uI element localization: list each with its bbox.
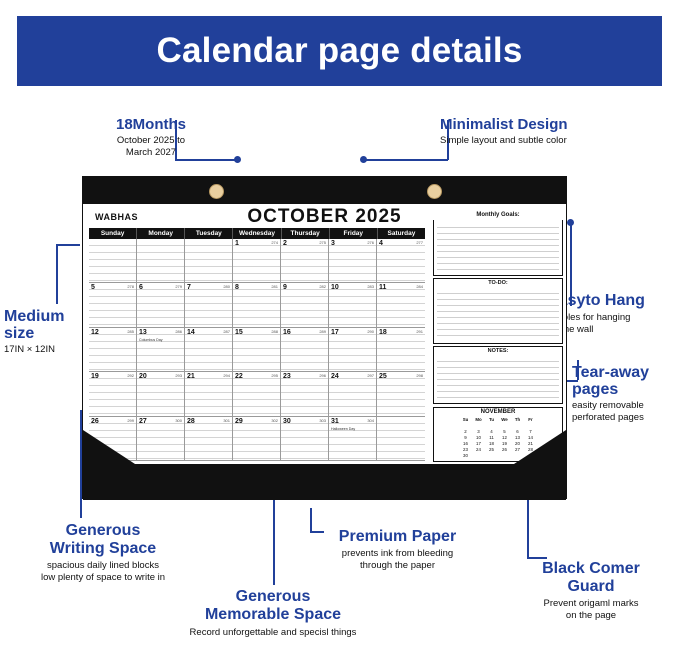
calendar-day-cell: 27300 bbox=[137, 417, 185, 461]
calendar-day-cell bbox=[185, 239, 233, 283]
day-number: 3 bbox=[331, 240, 335, 247]
callout-tear-away-sub: easity removable perforated pages bbox=[572, 400, 678, 424]
calendar-day-cell: 8281 bbox=[233, 283, 281, 327]
callout-tear-away-title: Tear-away pages bbox=[572, 364, 678, 398]
callout-memorable-space-title: Generous Memorable Space bbox=[148, 588, 398, 624]
calendar-day-cell: 15288 bbox=[233, 328, 281, 372]
day-of-year: 277 bbox=[416, 240, 423, 245]
calendar-day-cell: 12285 bbox=[89, 328, 137, 372]
day-number: 22 bbox=[235, 373, 243, 380]
calendar-day-cell: 22295 bbox=[233, 372, 281, 416]
day-of-year: 296 bbox=[319, 373, 326, 378]
hanging-hole-icon-right bbox=[427, 184, 442, 199]
calendar-day-cell: 31304Halloween Day bbox=[329, 417, 377, 461]
connector-dot-months bbox=[234, 156, 241, 163]
callout-premium-paper-title: Premium Paper bbox=[305, 528, 490, 546]
connector-dot-hang-top bbox=[567, 219, 574, 226]
day-number: 8 bbox=[235, 284, 239, 291]
calendar-day-cell bbox=[89, 239, 137, 283]
page-root: Calendar page details 18Months October 2… bbox=[0, 0, 679, 656]
day-number: 15 bbox=[235, 329, 243, 336]
calendar-day-cell: 23296 bbox=[281, 372, 329, 416]
day-number: 10 bbox=[331, 284, 339, 291]
day-of-year: 302 bbox=[271, 418, 278, 423]
day-of-year: 280 bbox=[223, 284, 230, 289]
day-of-year: 293 bbox=[175, 373, 182, 378]
day-number: 19 bbox=[91, 373, 99, 380]
hanging-hole-icon-left bbox=[209, 184, 224, 199]
calendar-day-cell: 10283 bbox=[329, 283, 377, 327]
day-number: 2 bbox=[283, 240, 287, 247]
callout-easy-hang: Easyto Hang 2 Holes for hanging on the w… bbox=[548, 292, 678, 336]
day-number: 7 bbox=[187, 284, 191, 291]
callout-premium-paper-sub: prevents ink from bleeding through the p… bbox=[305, 548, 490, 572]
day-number: 16 bbox=[283, 329, 291, 336]
calendar-bottom-band bbox=[83, 464, 566, 500]
page-title: Calendar page details bbox=[157, 31, 523, 71]
callout-premium-paper: Premium Paper prevents ink from bleeding… bbox=[305, 528, 490, 572]
day-event-label: Halloween Day bbox=[331, 427, 355, 431]
panel-todo-lines bbox=[437, 288, 559, 341]
mini-month-title: NOVEMBER bbox=[434, 408, 562, 415]
weekday-tuesday: Tuesday bbox=[185, 228, 233, 239]
panel-todo: TO-DO: bbox=[433, 278, 563, 344]
day-number: 6 bbox=[139, 284, 143, 291]
callout-writing-space-title: Generous Writing Space bbox=[8, 522, 198, 558]
day-number: 5 bbox=[91, 284, 95, 291]
connector-line-medium-v bbox=[56, 244, 58, 304]
callout-minimalist: Minimalist Design Simple layout and subt… bbox=[440, 116, 650, 147]
weekday-friday: Friday bbox=[330, 228, 378, 239]
day-number: 21 bbox=[187, 373, 195, 380]
day-of-year: 291 bbox=[416, 329, 423, 334]
mini-day bbox=[472, 452, 485, 458]
callout-corner-guard: Black Comer Guard Prevent origaml marks … bbox=[506, 560, 676, 622]
mini-day bbox=[498, 452, 511, 458]
day-of-year: 275 bbox=[319, 240, 326, 245]
day-number: 26 bbox=[91, 418, 99, 425]
connector-line-memory-v bbox=[273, 500, 275, 585]
connector-line-medium-h bbox=[56, 244, 80, 246]
calendar-top-bar bbox=[83, 177, 566, 204]
day-of-year: 297 bbox=[367, 373, 374, 378]
callout-18months: 18Months October 2025 to March 2027 bbox=[86, 116, 216, 159]
callout-18months-title: 18Months bbox=[86, 116, 216, 133]
day-of-year: 282 bbox=[319, 284, 326, 289]
day-number: 28 bbox=[187, 418, 195, 425]
calendar-day-cell: 13286Columbus Day bbox=[137, 328, 185, 372]
mini-day bbox=[485, 452, 498, 458]
day-number: 14 bbox=[187, 329, 195, 336]
day-of-year: 287 bbox=[223, 329, 230, 334]
weekday-wednesday: Wednesday bbox=[233, 228, 281, 239]
day-of-year: 288 bbox=[271, 329, 278, 334]
callout-minimalist-sub: Simple layout and subtle color bbox=[440, 135, 650, 147]
panel-goals-lines bbox=[437, 222, 559, 273]
day-number: 4 bbox=[379, 240, 383, 247]
day-number: 1 bbox=[235, 240, 239, 247]
panel-goals bbox=[433, 220, 563, 276]
panel-notes-label: NOTES: bbox=[434, 347, 562, 354]
weekday-saturday: Saturday bbox=[378, 228, 425, 239]
calendar-day-cell: 29302 bbox=[233, 417, 281, 461]
day-of-year: 279 bbox=[175, 284, 182, 289]
day-of-year: 285 bbox=[127, 329, 134, 334]
day-event-label: Columbus Day bbox=[139, 338, 163, 342]
day-of-year: 299 bbox=[127, 418, 134, 423]
day-of-year: 295 bbox=[271, 373, 278, 378]
day-of-year: 300 bbox=[175, 418, 182, 423]
calendar-day-cell: 20293 bbox=[137, 372, 185, 416]
weekday-header-row: Sunday Monday Tuesday Wednesday Thursday… bbox=[89, 228, 425, 239]
callout-writing-space-sub: spacious daily lined blocks low plenty o… bbox=[8, 560, 198, 584]
callout-easy-hang-sub: 2 Holes for hanging on the wall bbox=[548, 312, 678, 336]
connector-dot-minimal bbox=[360, 156, 367, 163]
day-of-year: 276 bbox=[367, 240, 374, 245]
panel-todo-label: TO-DO: bbox=[434, 279, 562, 286]
day-of-year: 294 bbox=[223, 373, 230, 378]
calendar-day-cell: 1274 bbox=[233, 239, 281, 283]
day-of-year: 289 bbox=[319, 329, 326, 334]
connector-line-corner-v bbox=[527, 500, 529, 558]
day-number: 18 bbox=[379, 329, 387, 336]
day-of-year: 283 bbox=[367, 284, 374, 289]
calendar-day-cell: 3276 bbox=[329, 239, 377, 283]
day-of-year: 292 bbox=[127, 373, 134, 378]
day-number: 13 bbox=[139, 329, 147, 336]
calendar-day-cell: 24297 bbox=[329, 372, 377, 416]
day-of-year: 298 bbox=[416, 373, 423, 378]
calendar-day-cell: 18291 bbox=[377, 328, 425, 372]
calendar-goals-header: Monthly Goals: bbox=[439, 212, 557, 218]
calendar-day-cell: 7280 bbox=[185, 283, 233, 327]
callout-corner-guard-title: Black Comer Guard bbox=[506, 560, 676, 596]
callout-easy-hang-title: Easyto Hang bbox=[548, 292, 678, 310]
day-number: 17 bbox=[331, 329, 339, 336]
callout-tear-away: Tear-away pages easity removable perfora… bbox=[572, 364, 678, 424]
day-of-year: 278 bbox=[127, 284, 134, 289]
day-number: 30 bbox=[283, 418, 291, 425]
connector-line-corner-h bbox=[527, 557, 547, 559]
day-of-year: 281 bbox=[271, 284, 278, 289]
calendar-preview: WABHAS OCTOBER 2025 Monthly Goals: Sunda… bbox=[82, 176, 567, 499]
day-of-year: 304 bbox=[367, 418, 374, 423]
calendar-day-cell: 16289 bbox=[281, 328, 329, 372]
calendar-day-cell: 9282 bbox=[281, 283, 329, 327]
calendar-day-cell: 6279 bbox=[137, 283, 185, 327]
day-number: 12 bbox=[91, 329, 99, 336]
calendar-day-cell: 2275 bbox=[281, 239, 329, 283]
callout-memorable-space: Generous Memorable Space Record unforget… bbox=[148, 588, 398, 639]
calendar-day-cell: 21294 bbox=[185, 372, 233, 416]
day-number: 27 bbox=[139, 418, 147, 425]
day-number: 20 bbox=[139, 373, 147, 380]
panel-notes: NOTES: bbox=[433, 346, 563, 404]
header-banner: Calendar page details bbox=[17, 16, 662, 86]
day-of-year: 290 bbox=[367, 329, 374, 334]
calendar-day-grid: 1274227532764277527862797280828192821028… bbox=[89, 239, 425, 461]
connector-line-months-h bbox=[175, 159, 237, 161]
weekday-sunday: Sunday bbox=[89, 228, 137, 239]
day-of-year: 303 bbox=[319, 418, 326, 423]
black-corner-guard-left bbox=[83, 430, 135, 464]
calendar-day-cell: 11284 bbox=[377, 283, 425, 327]
callout-18months-sub: October 2025 to March 2027 bbox=[86, 135, 216, 159]
callout-memorable-space-sub: Record unforgettable and specisl things bbox=[148, 627, 398, 639]
day-of-year: 274 bbox=[271, 240, 278, 245]
day-number: 29 bbox=[235, 418, 243, 425]
day-number: 9 bbox=[283, 284, 287, 291]
calendar-day-cell: 19292 bbox=[89, 372, 137, 416]
weekday-monday: Monday bbox=[137, 228, 185, 239]
callout-minimalist-title: Minimalist Design bbox=[440, 116, 650, 133]
calendar-day-cell: 30303 bbox=[281, 417, 329, 461]
day-of-year: 301 bbox=[223, 418, 230, 423]
calendar-day-cell: 5278 bbox=[89, 283, 137, 327]
connector-line-minimal-h bbox=[363, 159, 448, 161]
callout-corner-guard-sub: Prevent origaml marks on the page bbox=[506, 598, 676, 622]
calendar-day-cell: 14287 bbox=[185, 328, 233, 372]
day-number: 24 bbox=[331, 373, 339, 380]
calendar-body: WABHAS OCTOBER 2025 Monthly Goals: Sunda… bbox=[83, 204, 566, 500]
day-number: 31 bbox=[331, 418, 339, 425]
calendar-day-cell bbox=[137, 239, 185, 283]
panel-notes-lines bbox=[437, 356, 559, 401]
calendar-day-cell: 25298 bbox=[377, 372, 425, 416]
day-of-year: 284 bbox=[416, 284, 423, 289]
calendar-day-cell bbox=[377, 417, 425, 461]
calendar-day-cell: 4277 bbox=[377, 239, 425, 283]
weekday-thursday: Thursday bbox=[282, 228, 330, 239]
day-number: 25 bbox=[379, 373, 387, 380]
calendar-day-cell: 28301 bbox=[185, 417, 233, 461]
black-corner-guard-right bbox=[514, 430, 566, 464]
mini-day: 30 bbox=[459, 452, 472, 458]
calendar-day-cell: 17290 bbox=[329, 328, 377, 372]
day-number: 11 bbox=[379, 284, 386, 291]
day-number: 23 bbox=[283, 373, 291, 380]
day-of-year: 286 bbox=[175, 329, 182, 334]
callout-writing-space: Generous Writing Space spacious daily li… bbox=[8, 522, 198, 584]
